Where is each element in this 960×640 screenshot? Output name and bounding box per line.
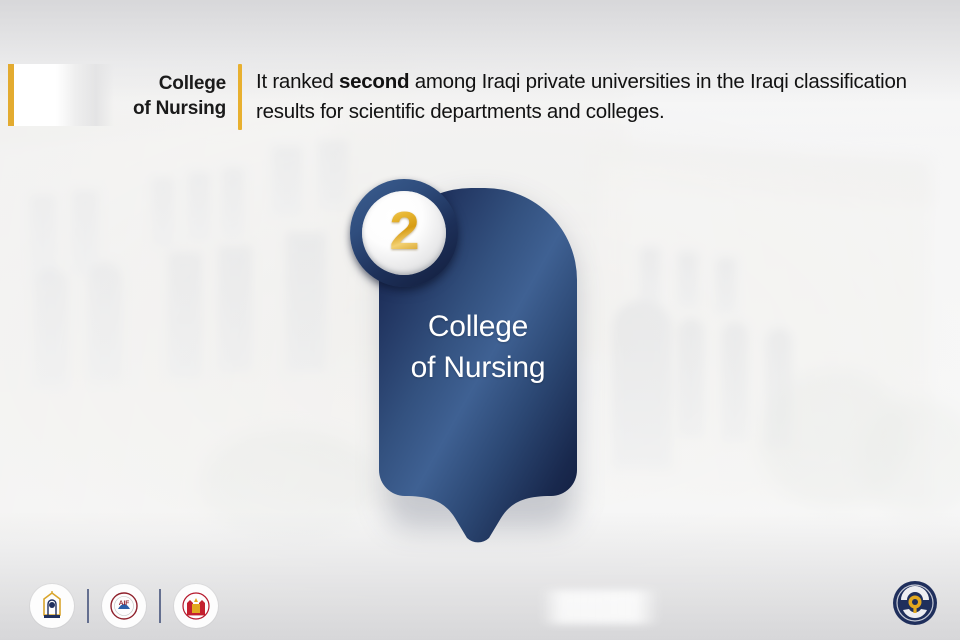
university-seal-logo-icon xyxy=(30,584,74,628)
institution-brand-mark-icon xyxy=(892,580,938,626)
svg-text:AIF: AIF xyxy=(119,600,130,607)
pin-title-line1: College xyxy=(379,306,577,347)
rank-number: 2 xyxy=(389,204,418,258)
ministry-glyph xyxy=(179,589,213,623)
accreditation-glyph: AIF xyxy=(107,589,141,623)
college-tag: College of Nursing xyxy=(114,62,238,132)
rank-pin-badge: College of Nursing 2 xyxy=(379,188,577,558)
ministry-logo-icon xyxy=(174,584,218,628)
header-bar: College of Nursing It ranked second amon… xyxy=(0,62,960,132)
college-tag-line2: of Nursing xyxy=(114,97,226,122)
footer-logo-group: AIF xyxy=(30,584,218,628)
footer-divider xyxy=(159,589,161,623)
brand-logo-chip xyxy=(8,64,114,126)
poster-canvas: College of Nursing It ranked second amon… xyxy=(0,0,960,640)
footer-divider xyxy=(87,589,89,623)
pin-title: College of Nursing xyxy=(379,306,577,389)
college-tag-line1: College xyxy=(114,72,226,97)
accreditation-logo-icon: AIF xyxy=(102,584,146,628)
headline-sentence: It ranked second among Iraqi private uni… xyxy=(256,67,960,126)
medallion-face: 2 xyxy=(362,191,446,275)
university-seal-glyph xyxy=(35,589,69,623)
headline-text: It ranked second among Iraqi private uni… xyxy=(242,62,960,132)
headline-emphasis: second xyxy=(339,70,409,93)
pin-title-line2: of Nursing xyxy=(379,347,577,388)
faded-watermark xyxy=(540,590,660,624)
rank-medallion: 2 xyxy=(350,179,458,287)
headline-prefix: It ranked xyxy=(256,70,339,93)
brand-mark-glyph xyxy=(892,580,938,626)
